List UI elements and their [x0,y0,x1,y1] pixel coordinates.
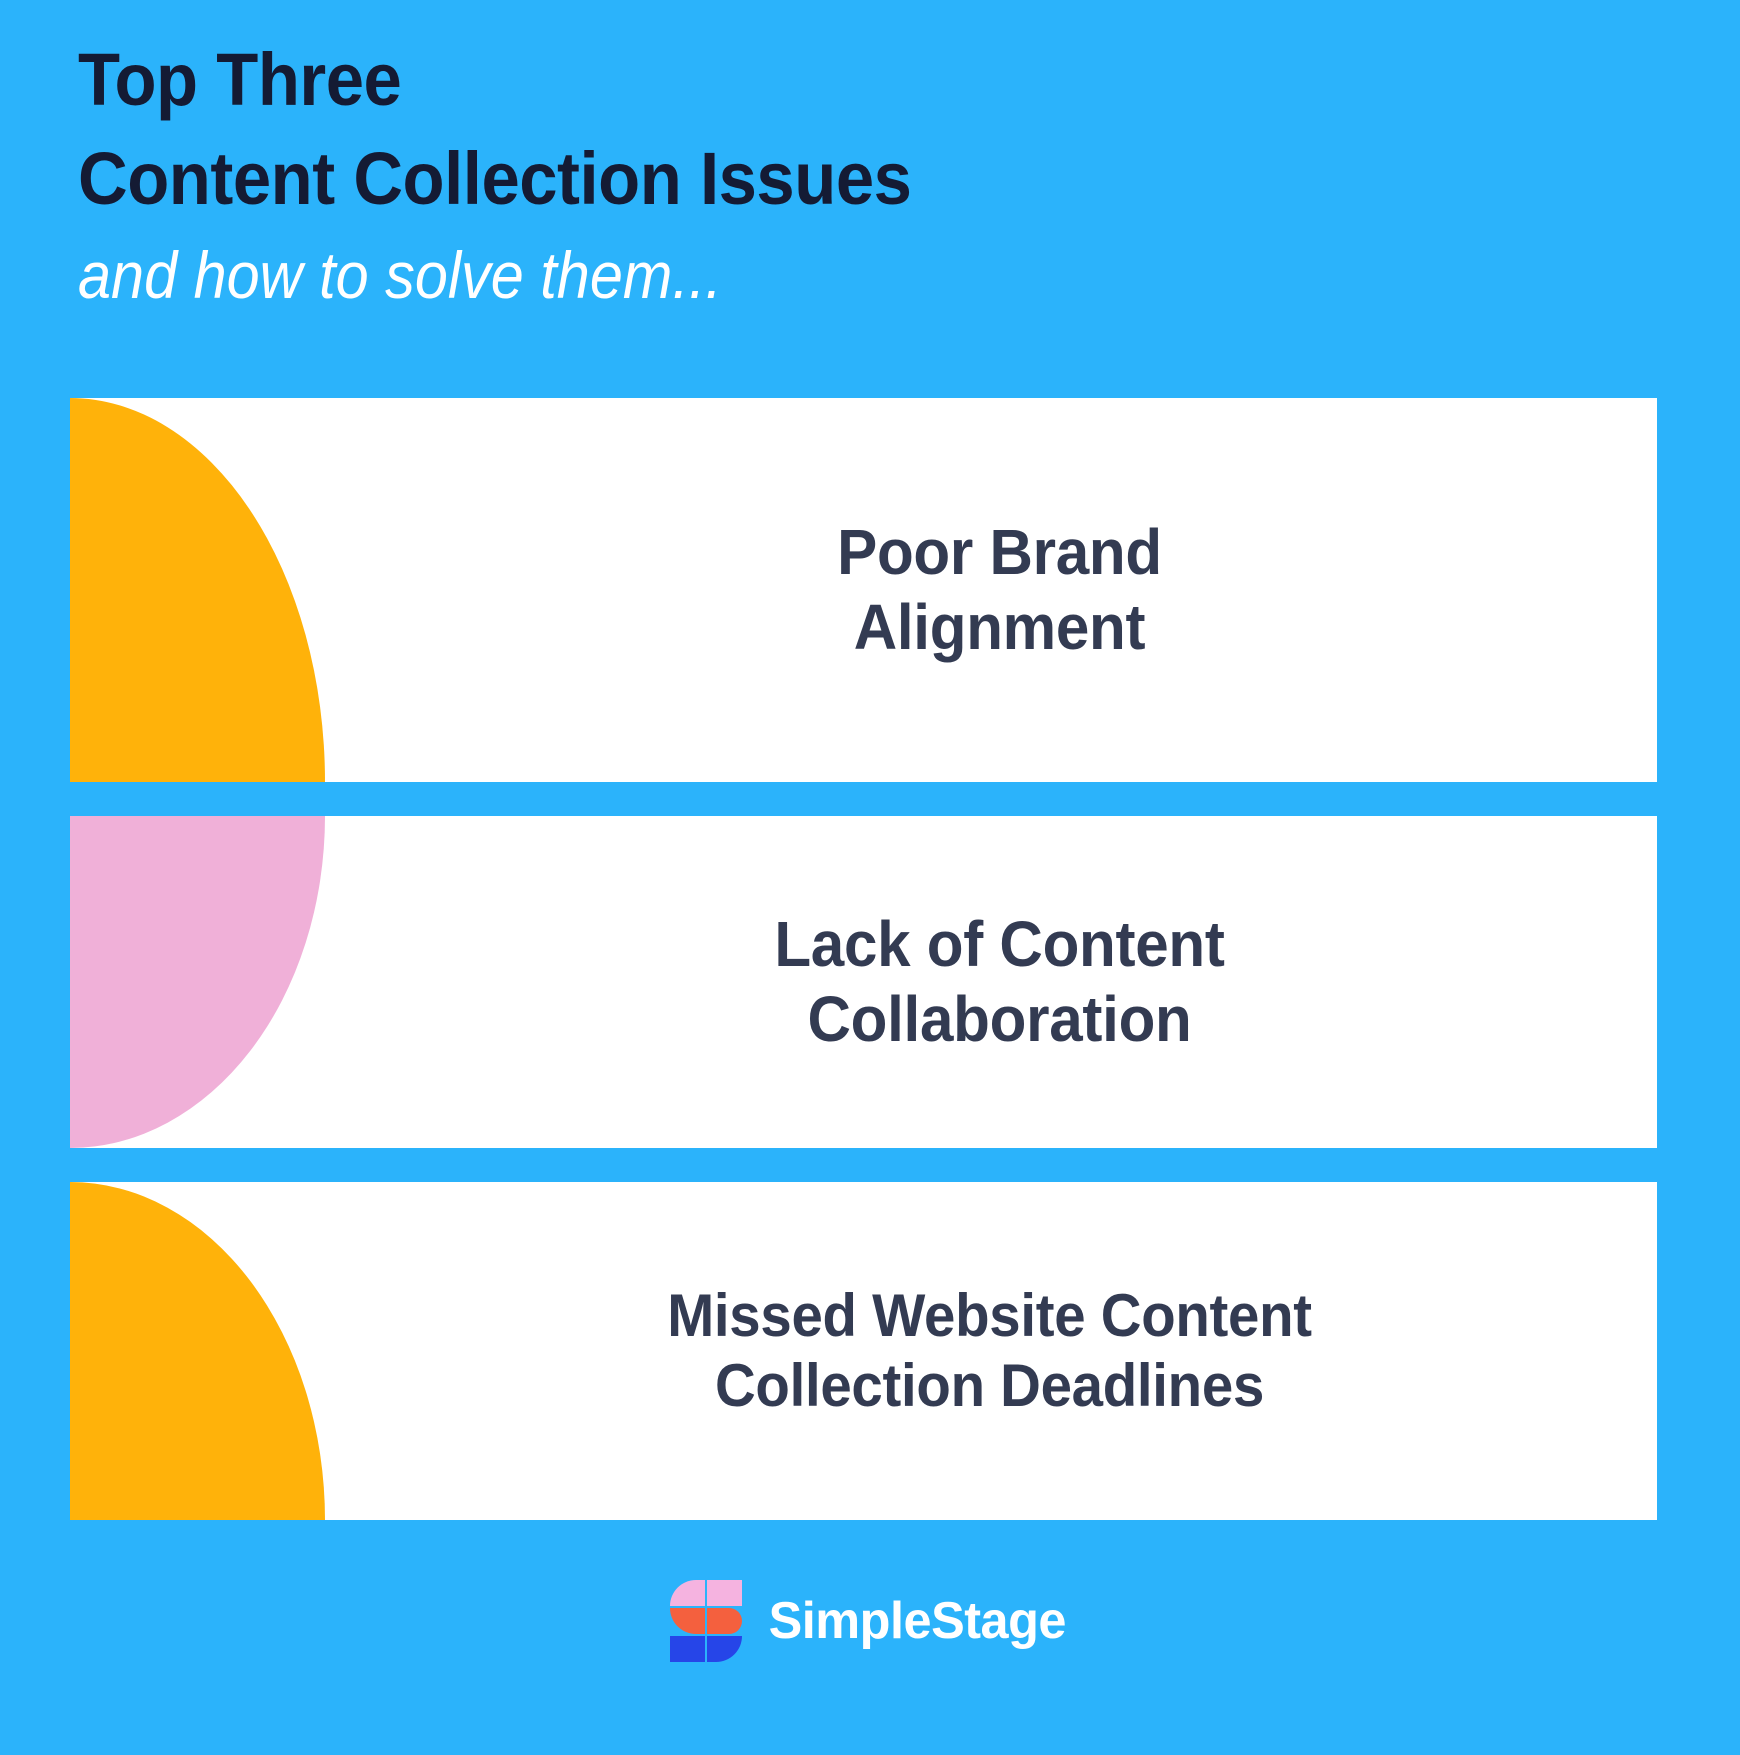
issue-card-3: Missed Website Content Collection Deadli… [70,1182,1657,1520]
card-3-text: Missed Website Content Collection Deadli… [388,1182,1590,1520]
card-3-accent-shape [70,1182,325,1520]
card-2-text: Lack of Content Collaboration [408,816,1591,1148]
logo-tile-2 [670,1608,705,1634]
card-2-accent-shape [70,816,325,1148]
brand-name: SimpleStage [768,1595,1065,1647]
page-subtitle: and how to solve them... [78,242,1482,308]
logo-tile-5 [707,1636,742,1662]
logo-tile-4 [670,1636,705,1662]
footer-brand: SimpleStage [0,1580,1740,1662]
card-2-line-2: Collaboration [807,982,1191,1057]
page-title-line-2: Content Collection Issues [78,141,1529,218]
card-3-line-2: Collection Deadlines [715,1351,1264,1421]
header-block: Top Three Content Collection Issues and … [78,42,1638,308]
card-1-accent-shape [70,398,325,782]
card-1-line-1: Poor Brand [837,515,1162,590]
card-1-line-2: Alignment [854,590,1146,665]
page-title-line-1: Top Three [78,42,1529,119]
infographic-poster: Top Three Content Collection Issues and … [0,0,1740,1755]
logo-tile-1 [707,1580,742,1606]
issue-card-1: Poor Brand Alignment [70,398,1657,782]
logo-tile-3 [707,1608,742,1634]
issue-card-2: Lack of Content Collaboration [70,816,1657,1148]
simplestage-s-mark-icon [670,1580,742,1662]
card-1-text: Poor Brand Alignment [408,398,1591,782]
logo-tile-0 [670,1580,705,1606]
card-3-line-1: Missed Website Content [667,1281,1312,1351]
card-2-line-1: Lack of Content [774,907,1224,982]
